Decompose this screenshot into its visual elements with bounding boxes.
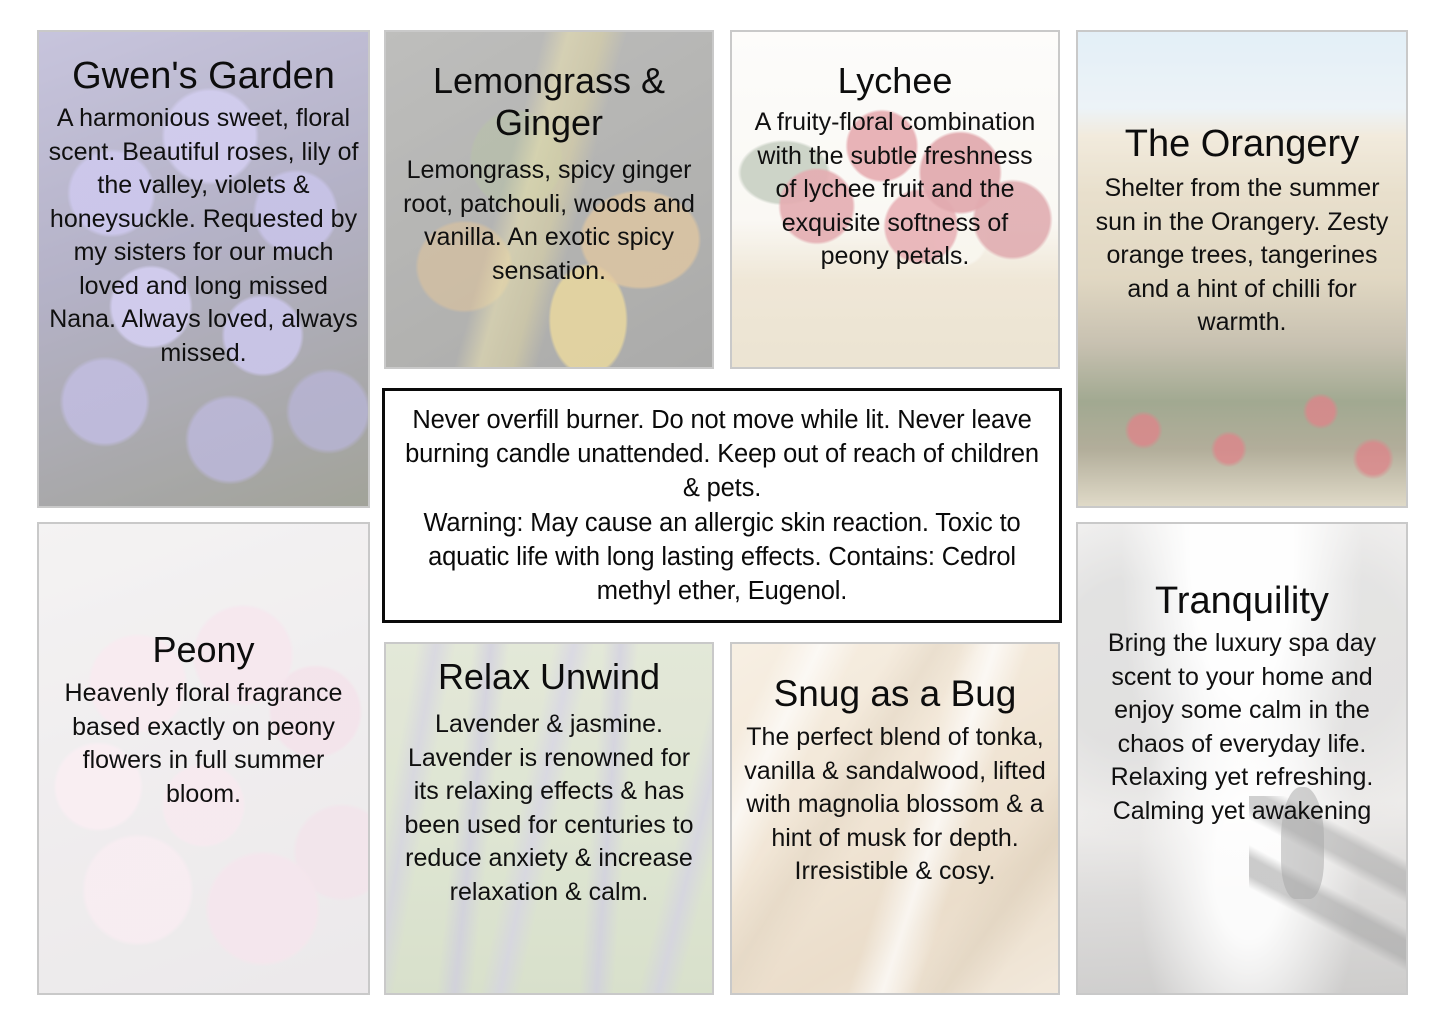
card-copy: Tranquility Bring the luxury spa day sce… (1078, 524, 1406, 828)
card-description: A fruity-floral combination with the sub… (732, 102, 1058, 274)
scent-card-lemongrass-ginger[interactable]: Lemongrass & Ginger Lemongrass, spicy gi… (384, 30, 714, 369)
card-title: Gwen's Garden (39, 54, 368, 98)
card-description: A harmonious sweet, floral scent. Beauti… (39, 98, 368, 370)
card-title: Peony (39, 629, 368, 671)
scent-card-tranquility[interactable]: Tranquility Bring the luxury spa day sce… (1076, 522, 1408, 995)
card-title: The Orangery (1078, 122, 1406, 166)
card-description: Shelter from the summer sun in the Orang… (1078, 166, 1406, 340)
card-title: Tranquility (1078, 579, 1406, 623)
card-title: Relax Unwind (386, 656, 712, 698)
card-copy: Lychee A fruity-floral combination with … (732, 32, 1058, 274)
card-copy: Lemongrass & Ginger Lemongrass, spicy gi… (386, 32, 712, 288)
card-copy: Snug as a Bug The perfect blend of tonka… (732, 644, 1058, 889)
card-copy: The Orangery Shelter from the summer sun… (1078, 32, 1406, 340)
scent-card-snug-as-a-bug[interactable]: Snug as a Bug The perfect blend of tonka… (730, 642, 1060, 995)
card-copy: Gwen's Garden A harmonious sweet, floral… (39, 32, 368, 370)
card-title: Snug as a Bug (732, 672, 1058, 715)
card-title: Lemongrass & Ginger (386, 60, 712, 144)
scent-card-gwens-garden[interactable]: Gwen's Garden A harmonious sweet, floral… (37, 30, 370, 508)
scent-card-peony[interactable]: Peony Heavenly floral fragrance based ex… (37, 522, 370, 995)
scent-card-lychee[interactable]: Lychee A fruity-floral combination with … (730, 30, 1060, 369)
scent-label-sheet: Gwen's Garden A harmonious sweet, floral… (0, 0, 1445, 1025)
scent-card-the-orangery[interactable]: The Orangery Shelter from the summer sun… (1076, 30, 1408, 508)
warning-line-hazard: Warning: May cause an allergic skin reac… (397, 506, 1047, 608)
card-description: Lavender & jasmine. Lavender is renowned… (386, 698, 712, 909)
card-description: Heavenly floral fragrance based exactly … (39, 671, 368, 811)
card-description: Bring the luxury spa day scent to your h… (1078, 623, 1406, 828)
card-copy: Relax Unwind Lavender & jasmine. Lavende… (386, 644, 712, 909)
scent-card-relax-unwind[interactable]: Relax Unwind Lavender & jasmine. Lavende… (384, 642, 714, 995)
card-description: The perfect blend of tonka, vanilla & sa… (732, 715, 1058, 889)
card-description: Lemongrass, spicy ginger root, patchouli… (386, 144, 712, 288)
card-title: Lychee (732, 60, 1058, 102)
warning-line-safety: Never overfill burner. Do not move while… (397, 403, 1047, 505)
safety-warning-panel: Never overfill burner. Do not move while… (382, 388, 1062, 623)
card-copy: Peony Heavenly floral fragrance based ex… (39, 524, 368, 811)
